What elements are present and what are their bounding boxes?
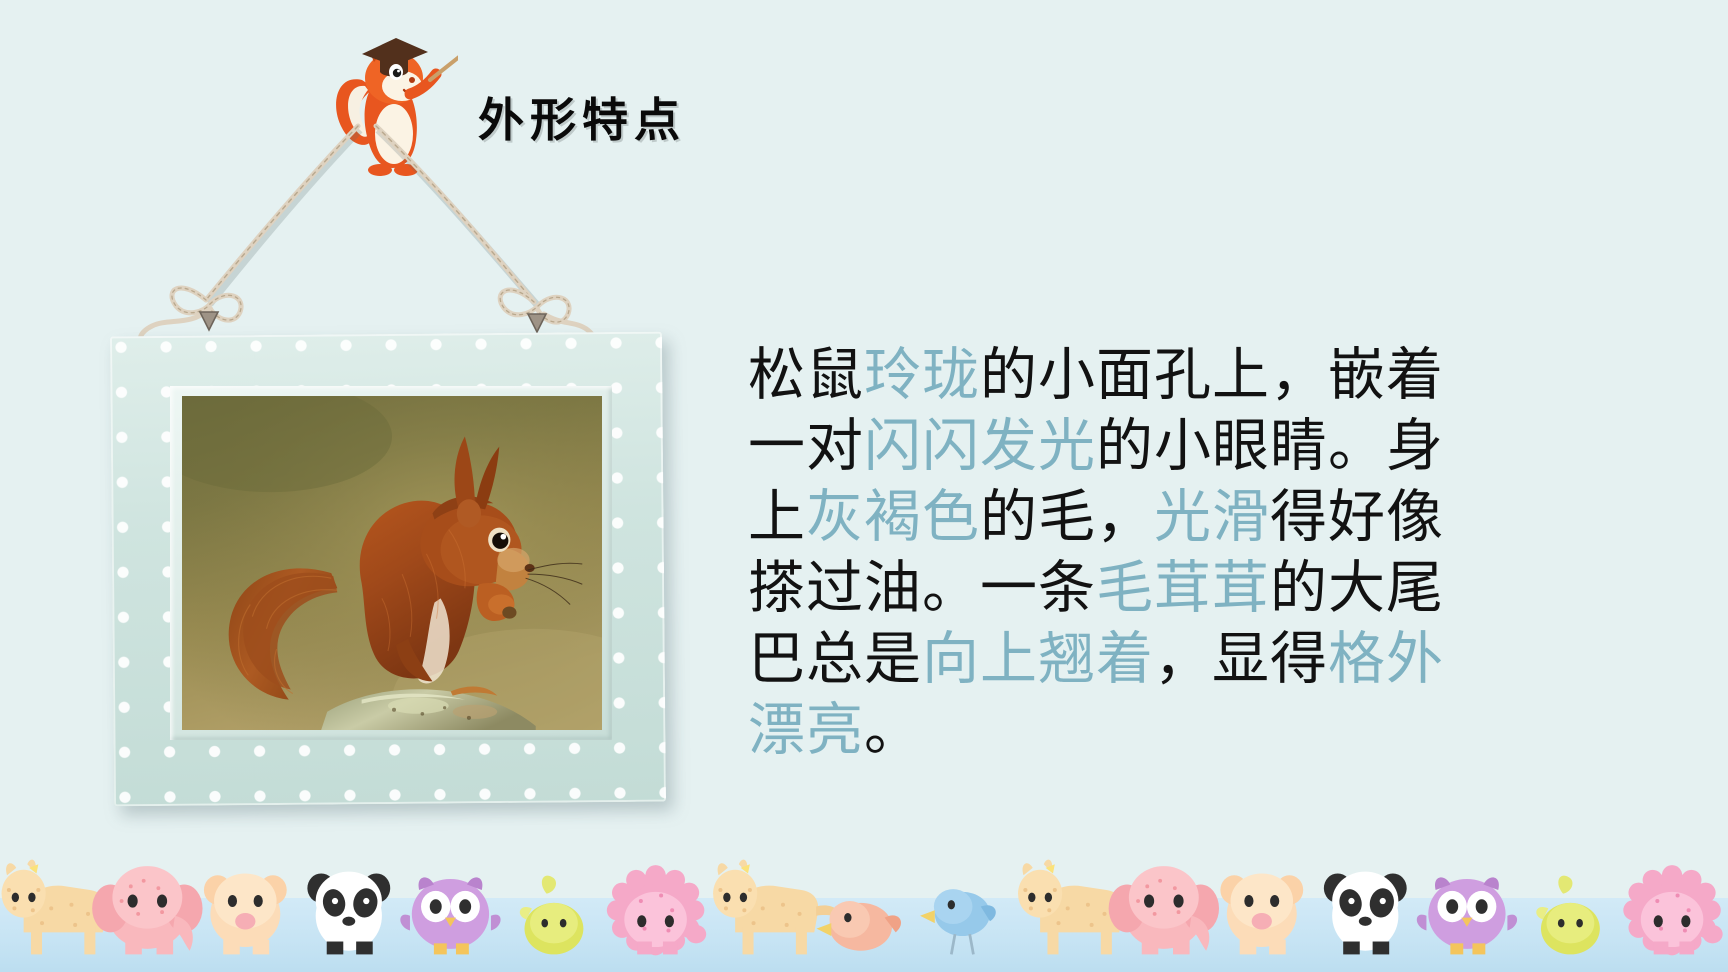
body-text-line: 松鼠玲珑的小面孔上，嵌着 <box>748 340 1478 411</box>
body-text-line: 漂亮。 <box>748 695 1478 766</box>
text-run: 得好像 <box>1270 486 1444 549</box>
text-run: 巴总是 <box>748 628 922 691</box>
slide-canvas: 外形特点 <box>0 0 1728 972</box>
bottom-blue-band <box>0 898 1728 972</box>
body-text-line: 巴总是向上翘着，显得格外 <box>748 624 1478 695</box>
text-run: 的毛， <box>980 486 1154 549</box>
highlighted-phrase: 灰褐色 <box>806 486 980 549</box>
picture-frame <box>112 334 664 804</box>
text-run: 松鼠 <box>748 344 864 407</box>
text-run: ，显得 <box>1154 628 1328 691</box>
hanging-twine-rope <box>60 120 680 350</box>
text-run: 上 <box>748 486 806 549</box>
text-run: 的大尾 <box>1270 557 1444 620</box>
text-run: 搽过油。一条 <box>748 557 1096 620</box>
body-text-line: 一对闪闪发光的小眼睛。身 <box>748 411 1478 482</box>
squirrel-photo <box>182 396 602 730</box>
body-text-line: 上灰褐色的毛，光滑得好像 <box>748 482 1478 553</box>
highlighted-phrase: 玲珑 <box>864 344 980 407</box>
highlighted-phrase: 光滑 <box>1154 486 1270 549</box>
body-text-line: 搽过油。一条毛茸茸的大尾 <box>748 553 1478 624</box>
text-run: 的小眼睛。身 <box>1096 415 1444 478</box>
body-text: 松鼠玲珑的小面孔上，嵌着一对闪闪发光的小眼睛。身上灰褐色的毛，光滑得好像搽过油。… <box>748 340 1478 766</box>
highlighted-phrase: 毛茸茸 <box>1096 557 1270 620</box>
highlighted-phrase: 漂亮 <box>748 699 864 762</box>
text-run: 。 <box>864 699 922 762</box>
highlighted-phrase: 闪闪发光 <box>864 415 1096 478</box>
highlighted-phrase: 向上翘着 <box>922 628 1154 691</box>
highlighted-phrase: 格外 <box>1328 628 1444 691</box>
text-run: 的小面孔上，嵌着 <box>980 344 1444 407</box>
text-run: 一对 <box>748 415 864 478</box>
